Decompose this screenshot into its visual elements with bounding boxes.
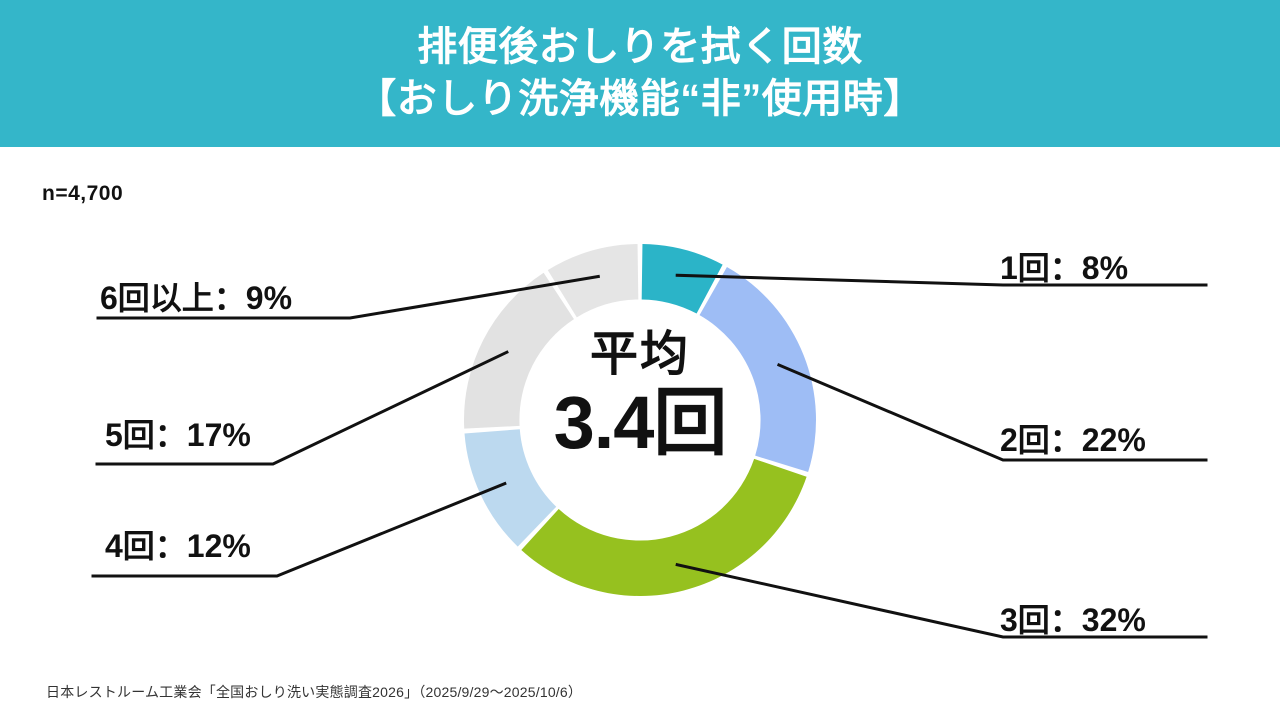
source-footnote: 日本レストルーム工業会「全国おしり洗い実態調査2026」（2025/9/29〜2… [46,682,582,702]
callout-label-6kai-ijo: 6回以上：9% [100,273,292,319]
page-title-line-1: 排便後おしりを拭く回数 [417,22,863,73]
callout-label-1kai: 1回：8% [1000,243,1128,289]
header-band: 排便後おしりを拭く回数 【おしり洗浄機能“非”使用時】 [0,0,1280,147]
donut-slice-group [464,244,816,596]
callout-label-3kai: 3回：32% [1000,595,1146,641]
callout-label-5kai: 5回：17% [105,410,251,456]
callout-label-4kai: 4回：12% [105,521,251,567]
donut-slice-3[interactable] [521,459,806,596]
callout-label-2kai: 2回：22% [1000,415,1146,461]
page-title-line-2: 【おしり洗浄機能“非”使用時】 [356,74,924,125]
donut-slice-2[interactable] [700,267,816,472]
